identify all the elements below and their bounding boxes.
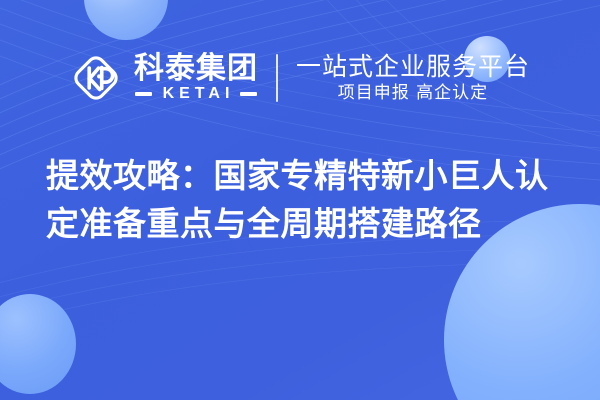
- decor-circle-top-icon: [84, 0, 168, 40]
- header-divider: [276, 54, 278, 102]
- brand-name-cn: 科泰集团: [134, 54, 258, 84]
- promo-banner: 科泰集团 KETAI 一站式企业服务平台 项目申报 高企认定 提效攻略：国家专精…: [0, 0, 600, 400]
- brand-name-en: KETAI: [158, 86, 235, 102]
- page-title-line-1: 提效攻略：国家专精特新小巨人认: [46, 152, 566, 200]
- tagline-secondary: 项目申报 高企认定: [296, 84, 530, 103]
- brand-dash-right-icon: [240, 92, 257, 96]
- tagline-primary: 一站式企业服务平台: [296, 54, 530, 80]
- page-title-line-2: 定准备重点与全周期搭建路径: [46, 200, 566, 248]
- tagline-block: 一站式企业服务平台 项目申报 高企认定: [296, 54, 530, 103]
- brand-wordmark: 科泰集团 KETAI: [134, 54, 258, 102]
- title-block: 提效攻略：国家专精特新小巨人认 定准备重点与全周期搭建路径: [46, 152, 566, 248]
- decor-circle-bottom-left-icon: [0, 294, 76, 394]
- banner-header: 科泰集团 KETAI 一站式企业服务平台 项目申报 高企认定: [0, 44, 600, 112]
- brand-dash-left-icon: [135, 92, 152, 96]
- brand-name-en-row: KETAI: [134, 86, 258, 102]
- brand-lockup: 科泰集团 KETAI: [70, 52, 258, 104]
- ketai-diamond-kp-logo-icon: [70, 52, 122, 104]
